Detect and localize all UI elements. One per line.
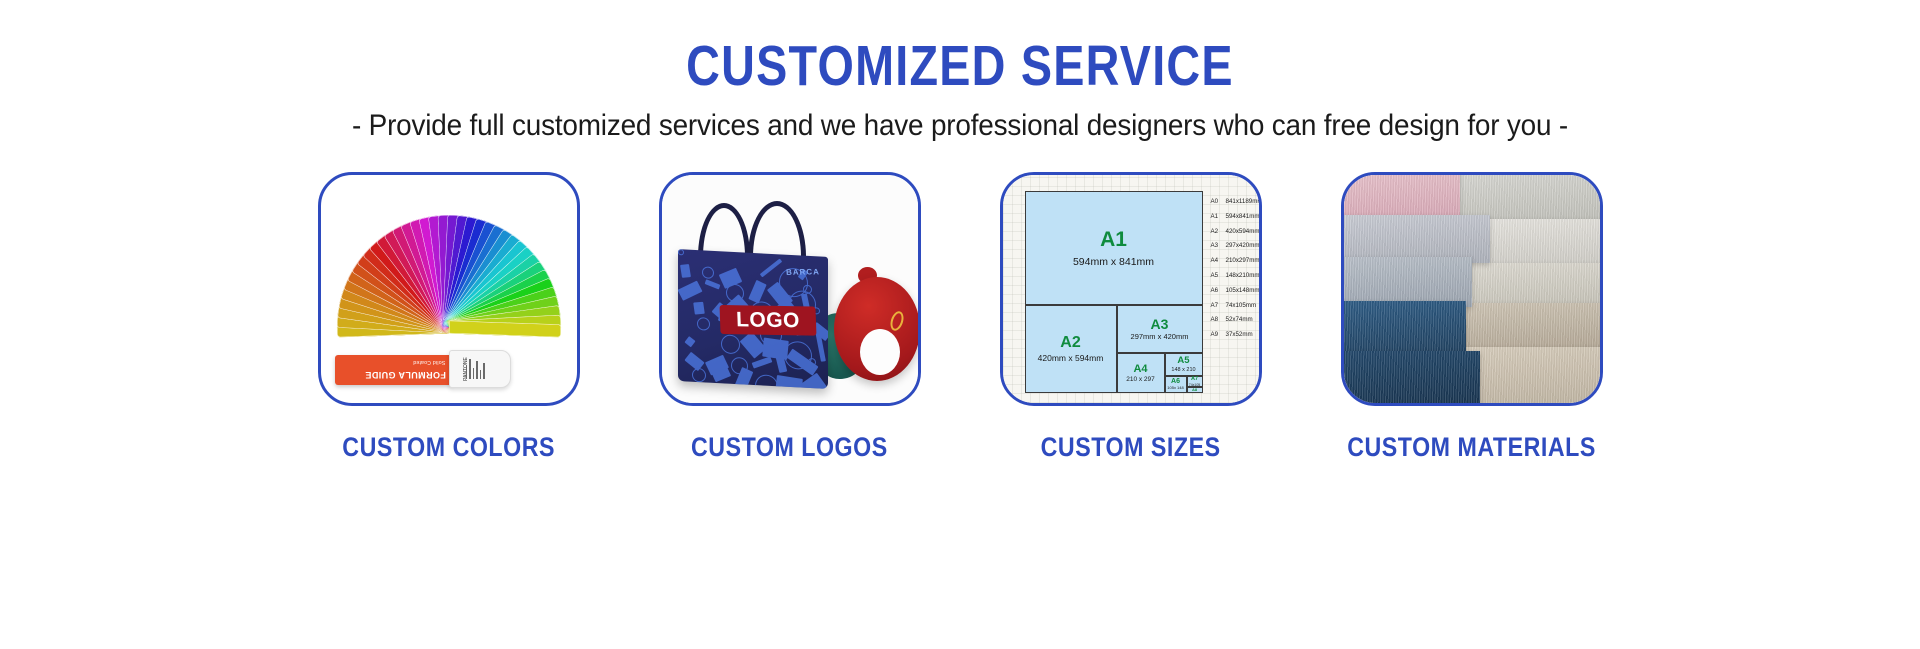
size-list-row: A937x52mm <box>1211 332 1262 338</box>
paper-box-a7: A7 74x105 <box>1187 376 1203 387</box>
bag-handle-right <box>748 201 806 259</box>
fabric-swatch <box>1344 215 1490 263</box>
tote-bag-product-image: BARCA LOGO <box>662 175 918 403</box>
size-list-key: A4 <box>1211 258 1221 264</box>
size-list-row: A3297x420mm <box>1211 243 1262 249</box>
size-list-key: A5 <box>1211 273 1221 279</box>
page-subtitle: - Provide full customized services and w… <box>67 109 1853 143</box>
fabric-swatch <box>1344 257 1472 307</box>
custom-logos-card-frame[interactable]: BARCA LOGO <box>659 172 921 406</box>
barcode-icon <box>466 359 485 379</box>
paper-box-a5-name: A5 <box>1177 356 1189 367</box>
card-label-custom-logos: CUSTOM LOGOS <box>691 432 888 463</box>
neck-pillow-red <box>834 277 920 381</box>
size-list-key: A8 <box>1211 317 1221 323</box>
service-card-custom-materials[interactable]: CUSTOM MATERIALS <box>1341 172 1603 463</box>
doodle-mark <box>704 279 720 289</box>
banner-header: CUSTOMIZED SERVICE - Provide full custom… <box>0 0 1920 143</box>
custom-materials-card-frame[interactable] <box>1341 172 1603 406</box>
paper-box-a5: A5 148 x 210 <box>1165 353 1203 376</box>
size-list-row: A2420x594mm <box>1211 229 1262 235</box>
bag-logo-banner: LOGO <box>719 305 816 336</box>
card-label-custom-colors: CUSTOM COLORS <box>342 432 555 463</box>
size-list-row: A0841x1189mm <box>1211 199 1262 205</box>
doodle-mark <box>748 280 766 304</box>
paper-box-a2-name: A2 <box>1060 334 1080 352</box>
doodle-mark <box>759 259 781 278</box>
tote-bag-body: BARCA LOGO <box>678 249 828 389</box>
paper-box-a6: A6 105x 148 <box>1165 376 1187 393</box>
doodle-mark <box>721 334 740 354</box>
card-label-custom-materials: CUSTOM MATERIALS <box>1347 432 1596 463</box>
paper-box-a8: A8 <box>1187 387 1203 393</box>
size-list-row: A774x105mm <box>1211 303 1262 309</box>
fabric-texture <box>1344 351 1480 403</box>
paper-box-a8-name: A8 <box>1192 388 1197 393</box>
paper-box-a4-dims: 210 x 297 <box>1126 376 1155 383</box>
size-list-value: 105x148mm <box>1226 288 1260 294</box>
paper-box-a5-dims: 148 x 210 <box>1171 367 1195 373</box>
pantone-formula-guide-book: Solid Coated FORMULA GUIDE <box>335 355 453 385</box>
custom-colors-card-frame[interactable]: Solid Coated FORMULA GUIDE PANTONE <box>318 172 580 406</box>
paper-box-a3-dims: 297mm x 420mm <box>1131 333 1189 342</box>
paper-box-a1-name: A1 <box>1100 228 1127 252</box>
size-list-value: 148x210mm <box>1226 273 1260 279</box>
service-card-row: Solid Coated FORMULA GUIDE PANTONE CUSTO… <box>0 172 1920 463</box>
paper-size-diagram: A1 594mm x 841mm A2 420mm x 594mm A3 297… <box>1025 191 1203 393</box>
doodle-mark <box>692 368 706 383</box>
paper-box-a2: A2 420mm x 594mm <box>1025 305 1117 393</box>
size-list-key: A6 <box>1211 288 1221 294</box>
size-list-key: A0 <box>1211 199 1221 205</box>
doodle-mark <box>678 249 684 255</box>
guide-subtitle-text: Solid Coated <box>413 359 445 365</box>
service-card-custom-colors[interactable]: Solid Coated FORMULA GUIDE PANTONE CUSTO… <box>318 172 580 463</box>
size-list-value: 210x297mm <box>1226 258 1260 264</box>
card-label-custom-sizes: CUSTOM SIZES <box>1041 432 1221 463</box>
page-title: CUSTOMIZED SERVICE <box>173 38 1747 95</box>
size-list-key: A3 <box>1211 243 1221 249</box>
service-card-custom-logos[interactable]: BARCA LOGO CUSTOM LOGOS <box>659 172 921 463</box>
size-list-key: A7 <box>1211 303 1221 309</box>
doodle-mark <box>684 336 695 347</box>
paper-size-chart-image: A1 594mm x 841mm A2 420mm x 594mm A3 297… <box>1003 175 1259 403</box>
size-list-value: 420x594mm <box>1226 229 1260 235</box>
size-list-value: 37x52mm <box>1226 332 1253 338</box>
size-list-value: 841x1189mm <box>1226 199 1262 205</box>
paper-size-reference-list: A0841x1189mmA1594x841mmA2420x594mmA3297x… <box>1211 199 1262 347</box>
doodle-mark <box>697 317 710 331</box>
guide-title-text: FORMULA GUIDE <box>365 370 446 380</box>
size-list-row: A852x74mm <box>1211 317 1262 323</box>
size-list-row: A1594x841mm <box>1211 214 1262 220</box>
paper-box-a3: A3 297mm x 420mm <box>1117 305 1203 353</box>
pantone-fan-deck-image: Solid Coated FORMULA GUIDE PANTONE <box>321 175 577 403</box>
color-swatch <box>448 321 560 338</box>
paper-box-a3-name: A3 <box>1151 316 1169 332</box>
fabric-swatch <box>1344 301 1466 357</box>
size-list-value: 594x841mm <box>1226 214 1260 220</box>
size-list-key: A1 <box>1211 214 1221 220</box>
doodle-mark <box>680 264 691 278</box>
size-list-key: A2 <box>1211 229 1221 235</box>
size-list-row: A5148x210mm <box>1211 273 1262 279</box>
paper-box-a2-dims: 420mm x 594mm <box>1038 354 1104 364</box>
size-list-row: A6105x148mm <box>1211 288 1262 294</box>
doodle-mark <box>755 374 778 389</box>
paper-box-a4: A4 210 x 297 <box>1117 353 1165 393</box>
paper-box-a6-dims: 105x 148 <box>1167 386 1183 391</box>
doodle-mark <box>775 375 803 389</box>
doodle-mark <box>702 266 714 279</box>
paper-box-a1: A1 594mm x 841mm <box>1025 191 1203 305</box>
doodle-mark <box>678 281 703 301</box>
size-list-row: A4210x297mm <box>1211 258 1262 264</box>
fabric-texture <box>1344 257 1472 307</box>
paper-box-a4-name: A4 <box>1133 363 1147 376</box>
fabric-swatch-image <box>1344 175 1600 403</box>
fabric-swatch <box>1344 351 1480 403</box>
pantone-guide-tab: PANTONE <box>449 350 511 388</box>
service-card-custom-sizes[interactable]: A1 594mm x 841mm A2 420mm x 594mm A3 297… <box>1000 172 1262 463</box>
paper-box-a1-dims: 594mm x 841mm <box>1073 256 1154 268</box>
size-list-value: 297x420mm <box>1226 243 1260 249</box>
size-list-key: A9 <box>1211 332 1221 338</box>
size-list-value: 74x105mm <box>1226 303 1257 309</box>
customized-service-banner: CUSTOMIZED SERVICE - Provide full custom… <box>0 0 1920 649</box>
fabric-texture <box>1344 301 1466 357</box>
bag-logo-text: LOGO <box>735 308 800 333</box>
fabric-texture <box>1344 215 1490 263</box>
bag-brand-text: BARCA <box>785 267 819 277</box>
custom-sizes-card-frame[interactable]: A1 594mm x 841mm A2 420mm x 594mm A3 297… <box>1000 172 1262 406</box>
doodle-mark <box>803 285 812 294</box>
doodle-mark <box>693 302 705 315</box>
size-list-value: 52x74mm <box>1226 317 1253 323</box>
